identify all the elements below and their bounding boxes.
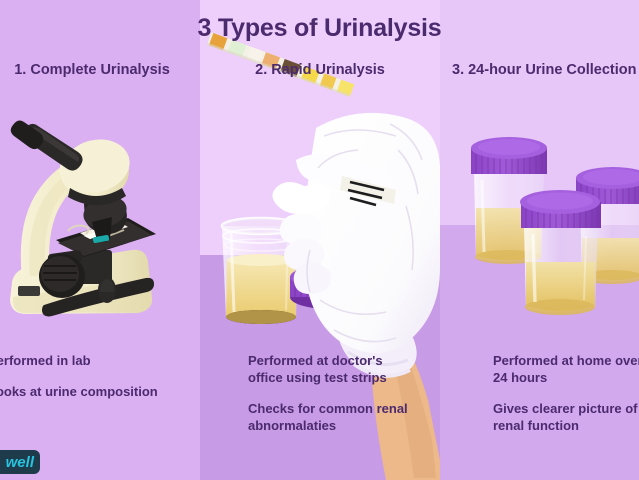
caption-text: Performed at doctor's office using test …: [248, 352, 418, 386]
column-3-captions: Performed at home over 24 hours Gives cl…: [493, 352, 639, 449]
caption-text: Performed at home over 24 hours: [493, 352, 639, 386]
caption-text: Performed in lab: [0, 352, 188, 369]
column-1-captions: Performed in lab Looks at urine composit…: [0, 352, 188, 414]
caption-text: Checks for common renal abnormalaties: [248, 400, 418, 434]
column-1-heading: 1. Complete Urinalysis: [0, 62, 192, 78]
verywell-logo: well: [0, 450, 40, 474]
microscope-illustration: [0, 100, 200, 335]
specimen-jar-front: [520, 190, 601, 315]
caption-text: Looks at urine composition: [0, 383, 188, 400]
column-2-captions: Performed at doctor's office using test …: [248, 352, 418, 449]
caption-text: Gives clearer picture of renal function: [493, 400, 639, 434]
infographic-root: 3 Types of Urinalysis 1. Complete Urinal…: [0, 0, 639, 480]
logo-text: well: [6, 454, 34, 471]
column-3-heading: 3. 24-hour Urine Collection: [452, 62, 637, 78]
page-title: 3 Types of Urinalysis: [0, 14, 639, 43]
column-2-heading: 2. Rapid Urinalysis: [200, 62, 440, 78]
